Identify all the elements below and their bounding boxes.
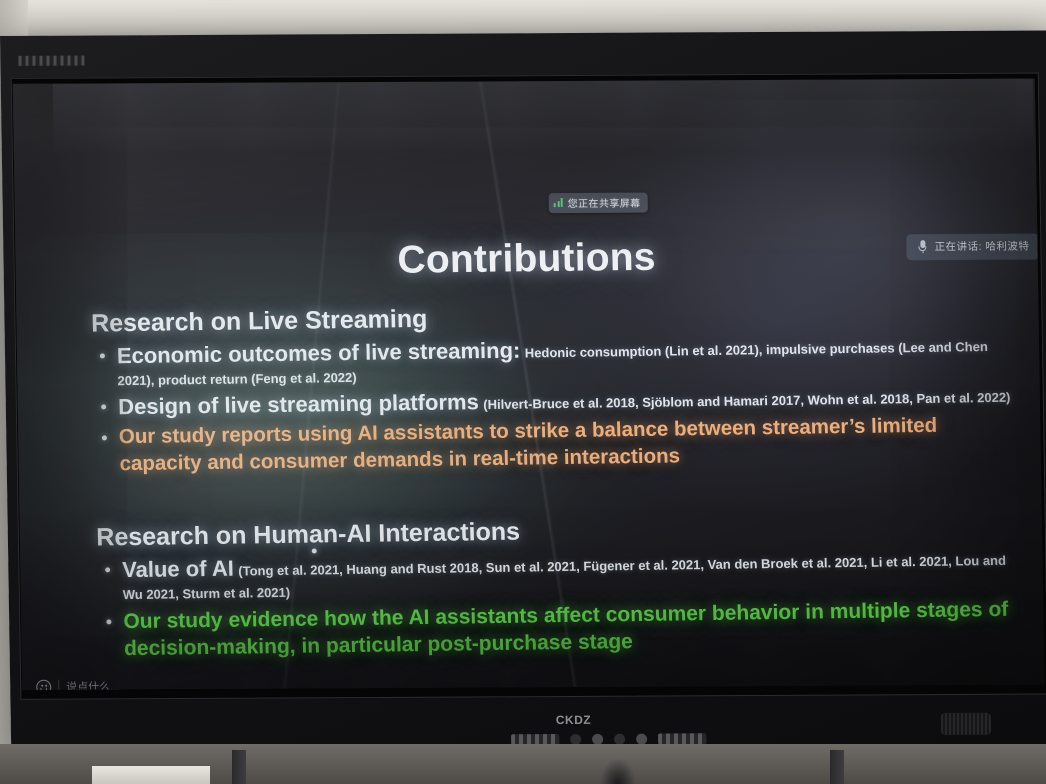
cable-bundle xyxy=(600,758,636,784)
composer-divider xyxy=(58,679,59,690)
bullet-our-study-live-streaming: Our study reports using AI assistants to… xyxy=(94,412,1025,478)
presentation-slide: Contributions Research on Live Streaming… xyxy=(13,79,1045,690)
bezel-button-3[interactable] xyxy=(614,733,625,744)
bezel-power-button[interactable] xyxy=(636,733,647,744)
signal-bars-icon xyxy=(554,198,563,207)
speaking-indicator[interactable]: 正在讲话: 哈利波特 xyxy=(906,234,1039,261)
chat-composer[interactable]: 说点什么... xyxy=(36,678,119,690)
stand-leg-right xyxy=(830,750,844,784)
stand-leg-left xyxy=(232,750,246,784)
bezel-model-plate xyxy=(658,733,706,744)
bullet-citation: (Tong et al. 2021, Huang and Rust 2018, … xyxy=(123,553,1007,602)
speaker-grille xyxy=(941,713,991,735)
slide-title: Contributions xyxy=(15,231,1038,287)
paper-sheet xyxy=(92,766,210,784)
bullet-lead: Design of live streaming platforms xyxy=(118,390,479,420)
bullet-list-live-streaming: Economic outcomes of live streaming: Hed… xyxy=(92,330,1025,478)
bullet-lead: Our study evidence how the AI assistants… xyxy=(123,597,1008,660)
bezel-button-2[interactable] xyxy=(592,733,603,744)
wall-display: Contributions Research on Live Streaming… xyxy=(0,31,1046,762)
bezel-button-1[interactable] xyxy=(570,733,581,744)
microphone-icon xyxy=(918,240,926,253)
bullet-lead: Economic outcomes of live streaming: xyxy=(117,338,521,369)
slide-body: Research on Live Streaming Economic outc… xyxy=(91,297,1030,665)
shared-screen: Contributions Research on Live Streaming… xyxy=(13,79,1045,690)
smiley-icon[interactable] xyxy=(36,679,51,690)
speaking-indicator-label: 正在讲话: 哈利波特 xyxy=(934,239,1029,254)
screen-share-banner[interactable]: 您正在共享屏幕 xyxy=(549,193,648,214)
device-brand-logo: CKDZ xyxy=(556,713,592,727)
bullet-lead: Our study reports using AI assistants to… xyxy=(119,414,938,475)
screen-share-banner-label: 您正在共享屏幕 xyxy=(568,195,641,210)
bullet-lead: Value of AI xyxy=(122,556,234,583)
bullet-list-human-ai: Value of AI (Tong et al. 2021, Huang and… xyxy=(97,544,1029,663)
bullet-our-study-human-ai: Our study evidence how the AI assistants… xyxy=(98,595,1029,663)
bezel-sticker xyxy=(18,56,84,66)
desk-surface xyxy=(0,744,1046,784)
bullet-citation: (Hilvert-Bruce et al. 2018, Sjöblom and … xyxy=(483,390,1010,412)
chat-input-placeholder[interactable]: 说点什么... xyxy=(66,678,119,690)
